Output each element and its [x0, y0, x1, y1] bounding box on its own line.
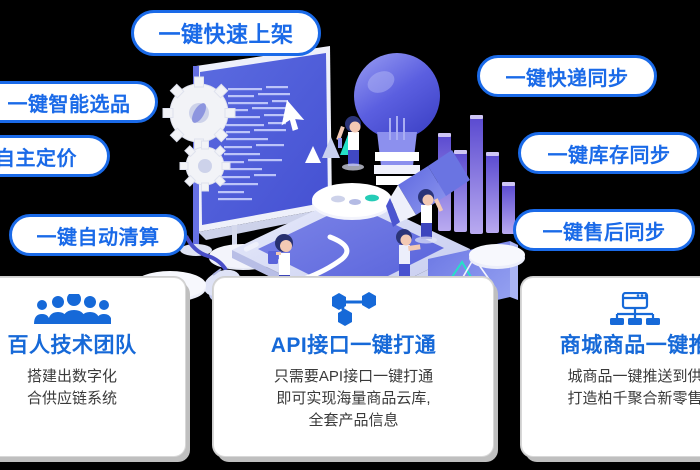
sitemap-distribute-icon	[609, 292, 661, 326]
pill-one-click-auto-settlement[interactable]: 一键自动清算	[9, 214, 187, 256]
palette-dish	[312, 183, 392, 220]
giant-pen	[386, 150, 470, 227]
ground-dish-right	[469, 247, 525, 269]
card-description: 城商品一键推送到供 打造柏千聚合新零售	[567, 366, 700, 410]
bar-chart-illustration	[438, 115, 515, 234]
card-title: 百人技术团队	[8, 329, 137, 359]
pill-one-click-smart-selection[interactable]: 一键智能选品	[0, 81, 158, 123]
card-api-integration[interactable]: API接口一键打通 只需要API接口一键打通 即可实现海量商品云库, 全套产品信…	[213, 277, 494, 457]
pill-one-click-aftersales-sync[interactable]: 一键售后同步	[513, 209, 695, 251]
promo-banner-stage: 一键快速上架 一键智能选品 自主定价 一键自动清算 一键快递同步 一键库存同步 …	[0, 0, 700, 470]
network-nodes-icon	[326, 292, 382, 326]
gears-icon	[163, 77, 235, 191]
card-mall-push[interactable]: 商城商品一键推 城商品一键推送到供 打造柏千聚合新零售	[521, 277, 700, 457]
pill-independent-pricing[interactable]: 自主定价	[0, 135, 110, 177]
person-on-plate	[338, 138, 342, 148]
pill-one-click-express-sync[interactable]: 一键快递同步	[477, 55, 657, 97]
pointer-cursor-icon	[281, 100, 308, 133]
pill-one-click-inventory-sync[interactable]: 一键库存同步	[518, 132, 700, 174]
curved-monitor	[180, 46, 358, 270]
pill-one-click-fast-listing[interactable]: 一键快速上架	[131, 10, 321, 56]
lightbulb-icon	[354, 53, 440, 185]
person-raising-hands	[336, 116, 364, 171]
card-description: 搭建出数字化 合供应链系统	[27, 366, 117, 410]
card-tech-team[interactable]: 百人技术团队 搭建出数字化 合供应链系统	[0, 277, 186, 457]
card-description: 只需要API接口一键打通 即可实现海量商品云库, 全套产品信息	[274, 366, 433, 431]
card-title: 商城商品一键推	[560, 329, 700, 359]
card-title: API接口一键打通	[271, 329, 437, 359]
person-standing-right	[415, 189, 443, 244]
team-group-icon	[33, 292, 111, 326]
